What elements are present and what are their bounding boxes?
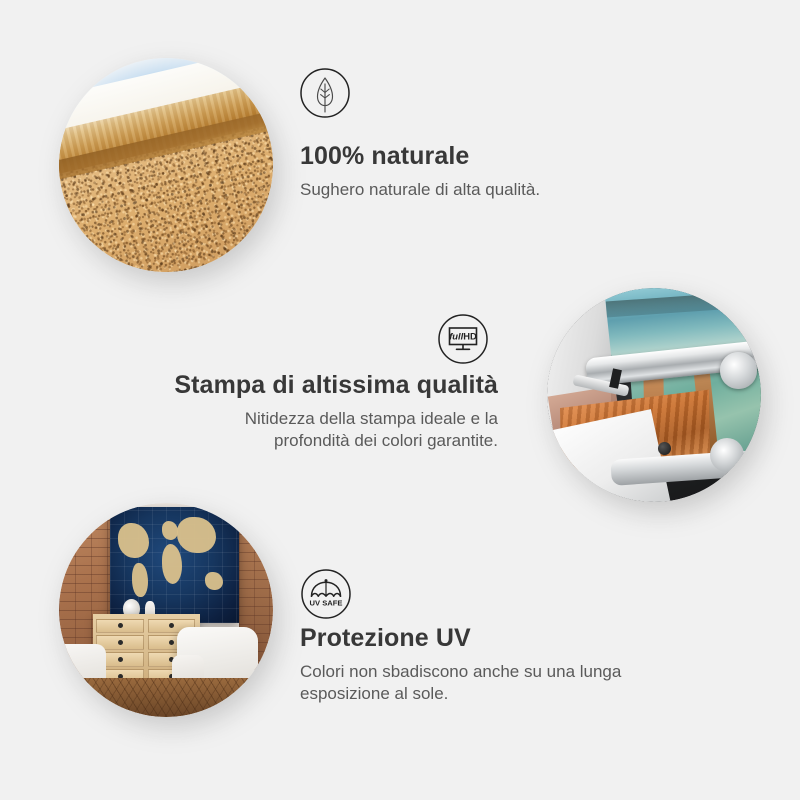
cork-texture-photo [59,58,273,272]
feature-uv-title: Protezione UV [300,625,700,653]
room-photo-inner [59,503,273,717]
feature-print-title: Stampa di altissima qualità [148,372,498,400]
feature-uv-description-line-1: Colori non sbadiscono anche su una lunga [300,662,621,681]
feature-print-description-line-1: Nitidezza della stampa ideale e la [245,409,498,428]
printer-photo-inner [547,288,761,502]
large-format-printer-photo [547,288,761,502]
feature-uv-text: Protezione UV Colori non sbadiscono anch… [300,625,700,706]
feature-print-text: Stampa di altissima qualità Nitidezza de… [148,372,498,453]
printer-top-knob [720,352,756,388]
fullhd-icon-label: fullHD [449,331,477,342]
leaf-icon [299,67,351,119]
uv-safe-icon-label: UV SAFE [310,598,343,607]
fullhd-monitor-icon: fullHD [437,313,489,365]
infographic-stage: 100% naturale Sughero naturale di alta q… [0,0,800,800]
printer-bolt [658,442,671,455]
uv-safe-umbrella-icon: UV SAFE [300,568,352,620]
printer-bottom-knob [710,438,744,472]
feature-print-description-line-2: profondità dei colori garantite. [274,431,498,450]
room-herringbone-floor [59,678,273,717]
feature-natural-description: Sughero naturale di alta qualità. [300,179,680,202]
world-map-asia [177,517,216,554]
world-map-south-america [132,563,147,598]
cork-texture-photo-inner [59,58,273,272]
world-map-australia [205,572,223,590]
feature-uv-description: Colori non sbadiscono anche su una lunga… [300,661,700,707]
interior-world-map-photo [59,503,273,717]
feature-natural-title: 100% naturale [300,143,680,171]
feature-uv-description-line-2: esposizione al sole. [300,684,448,703]
feature-natural-text: 100% naturale Sughero naturale di alta q… [300,143,680,201]
feature-print-description: Nitidezza della stampa ideale e la profo… [148,408,498,454]
world-map-europe [162,521,179,539]
world-map-north-america [118,523,149,558]
